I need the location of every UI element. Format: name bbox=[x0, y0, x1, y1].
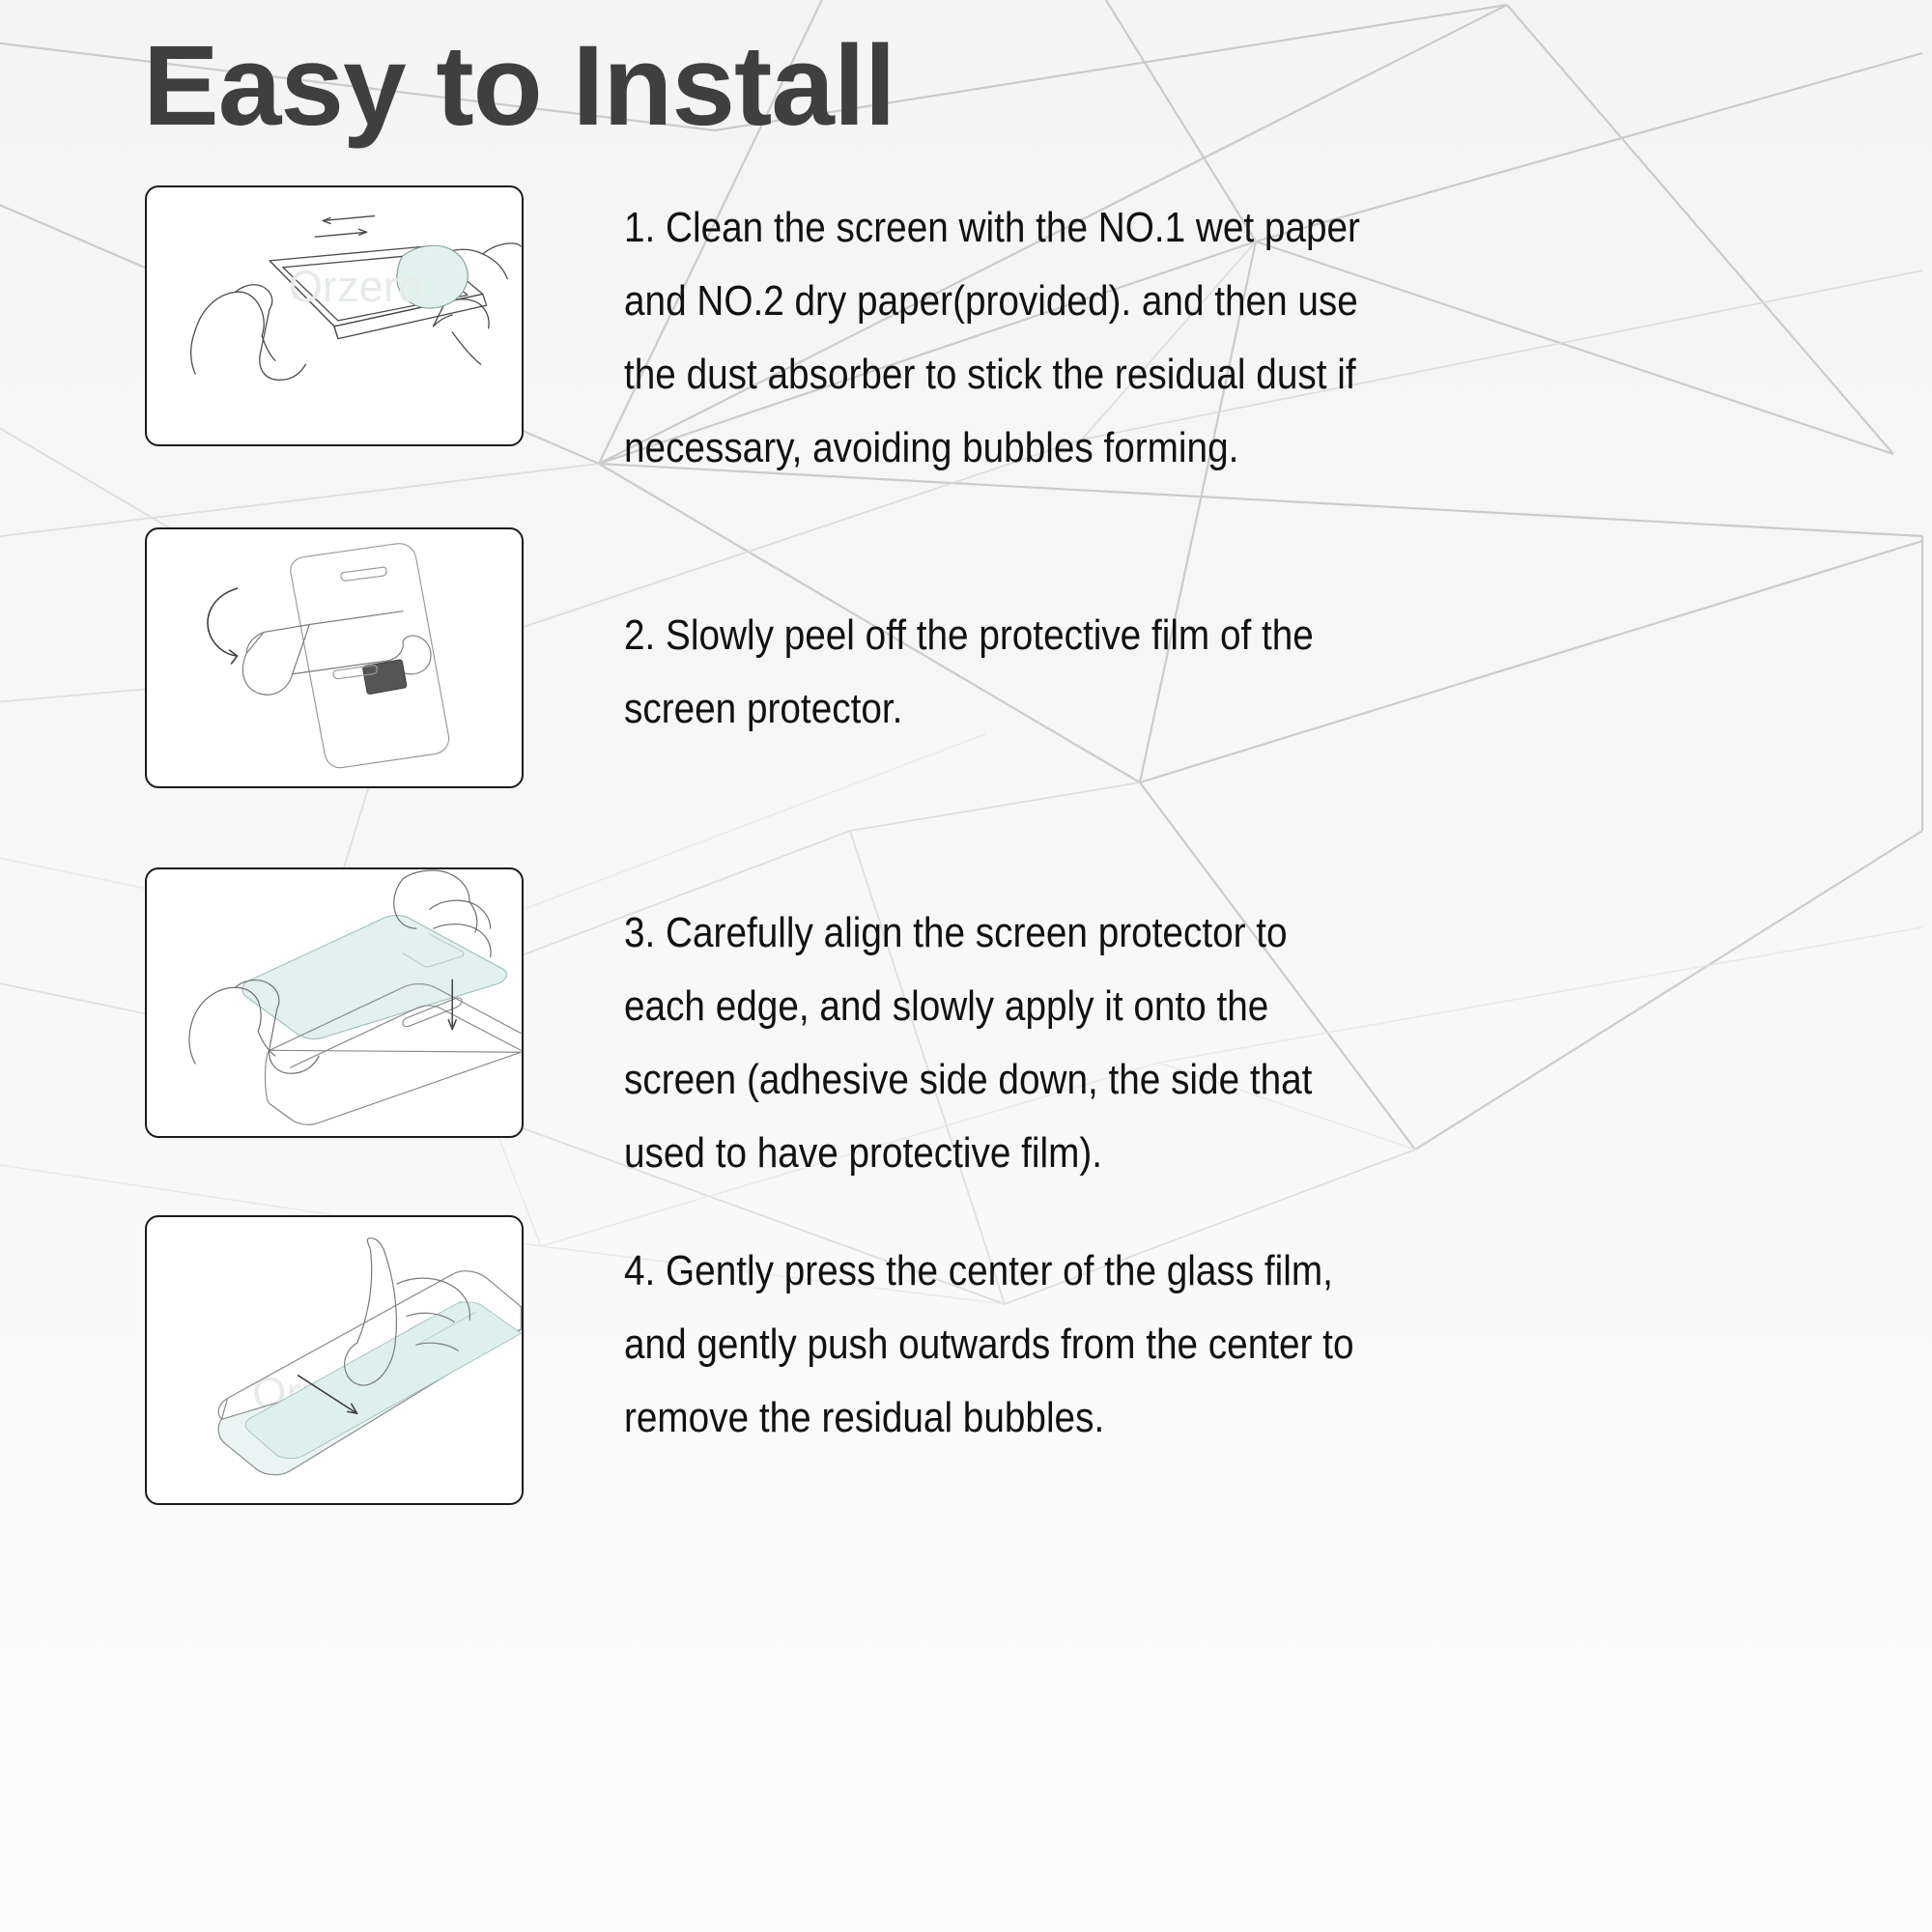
illustration-align-protector: Orzero bbox=[147, 869, 522, 1136]
peel-rotate-arrow bbox=[208, 588, 238, 664]
step-text-1: 1. Clean the screen with the NO.1 wet pa… bbox=[624, 191, 1372, 485]
illustration-peel-film bbox=[147, 529, 522, 786]
illustration-press-center: Orzero bbox=[147, 1217, 522, 1503]
illustration-panel-step-4: Orzero bbox=[145, 1215, 524, 1505]
glass-protector bbox=[242, 916, 506, 1039]
watermark-orzero: Orzero bbox=[289, 262, 422, 311]
illustration-panel-step-3: Orzero bbox=[145, 867, 524, 1138]
step-text-2: 2. Slowly peel off the protective film o… bbox=[624, 599, 1372, 746]
step-text-4: 4. Gently press the center of the glass … bbox=[624, 1235, 1372, 1455]
wipe-arrow-left bbox=[323, 216, 374, 224]
illustration-panel-step-1: Orzero bbox=[145, 185, 524, 446]
film-pull-tab bbox=[362, 660, 407, 695]
page-title: Easy to Install bbox=[143, 29, 895, 143]
wipe-arrow-right bbox=[315, 229, 366, 237]
illustration-clean-screen: Orzero bbox=[147, 187, 522, 444]
phone-outline bbox=[291, 544, 449, 768]
step-text-3: 3. Carefully align the screen protector … bbox=[624, 896, 1372, 1190]
illustration-panel-step-2 bbox=[145, 527, 524, 788]
